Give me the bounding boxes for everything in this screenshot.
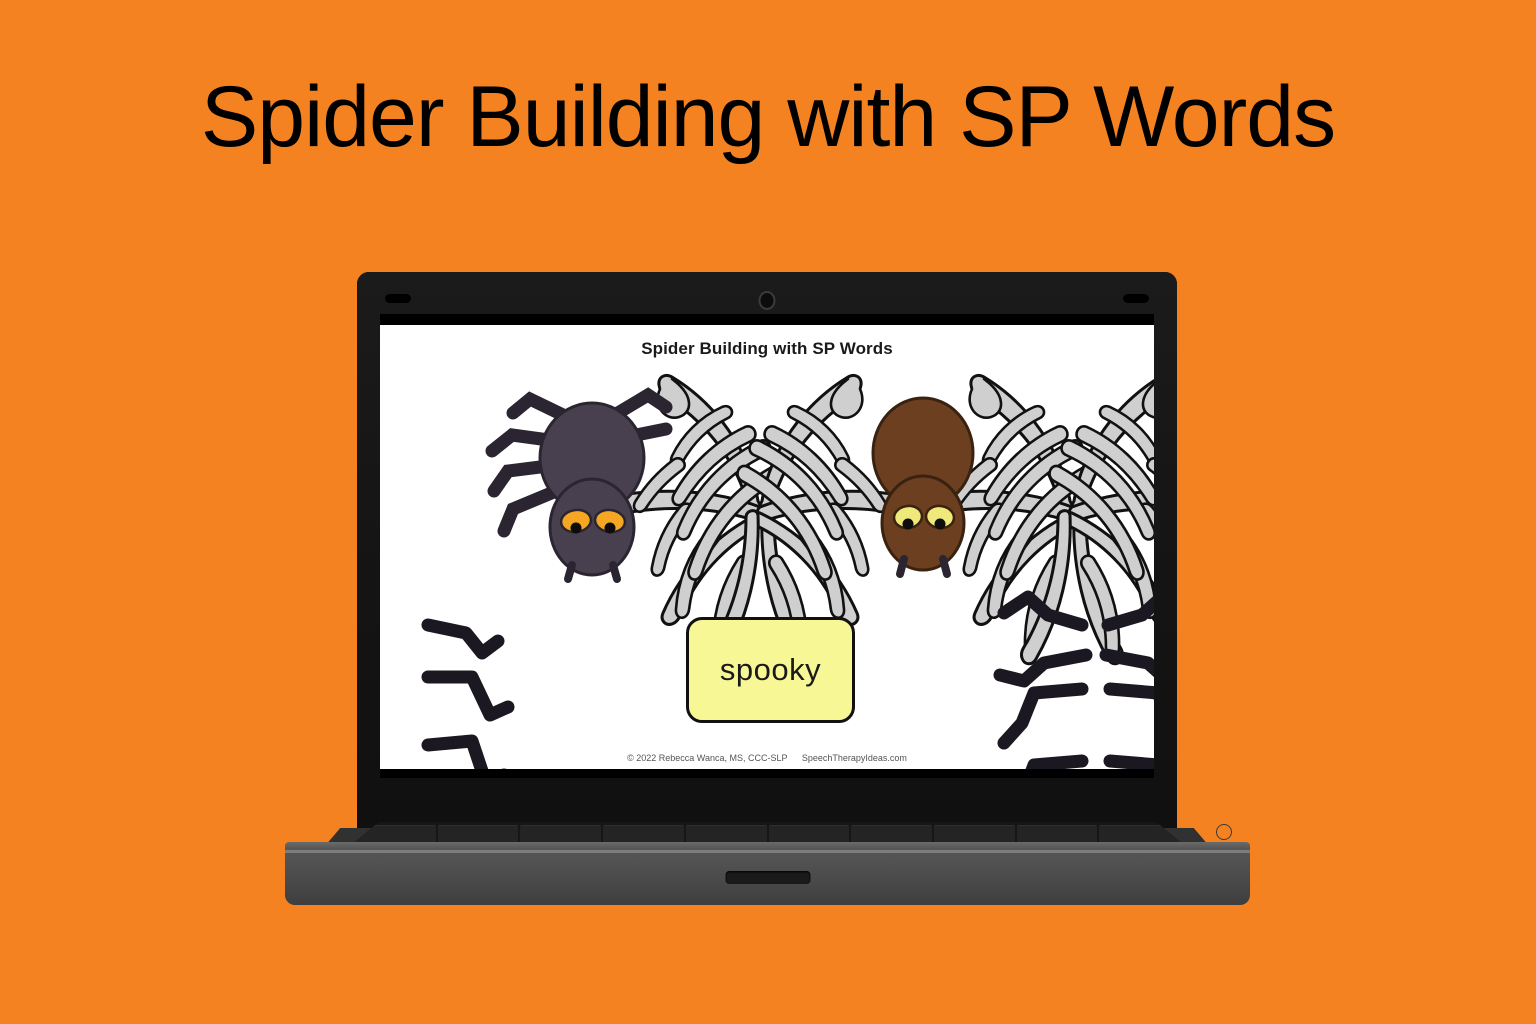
website-text: SpeechTherapyIdeas.com xyxy=(802,753,907,763)
screen-bottom-band xyxy=(380,769,1154,778)
loose-leg-right-3[interactable] xyxy=(1000,655,1086,681)
loose-leg-right-1[interactable] xyxy=(1004,597,1082,625)
bezel-indicator-left-icon xyxy=(385,294,411,303)
slide-footer: © 2022 Rebecca Wanca, MS, CCC-SLP Speech… xyxy=(380,753,1154,763)
loose-leg-right-5[interactable] xyxy=(1004,689,1082,743)
webcam-icon xyxy=(759,291,776,310)
loose-leg-right-4[interactable] xyxy=(1106,655,1154,681)
base-highlight-line xyxy=(285,850,1250,853)
word-card[interactable]: spooky xyxy=(686,617,855,723)
base-latch-notch xyxy=(725,871,810,884)
laptop-mockup: Spider Building with SP Words xyxy=(285,272,1250,905)
word-card-label: spooky xyxy=(720,652,821,688)
laptop-lid: Spider Building with SP Words xyxy=(357,272,1177,842)
loose-leg-left-1[interactable] xyxy=(428,625,498,653)
power-button-icon[interactable] xyxy=(1216,824,1232,840)
page-title: Spider Building with SP Words xyxy=(0,72,1536,162)
copyright-text: © 2022 Rebecca Wanca, MS, CCC-SLP xyxy=(627,753,787,763)
loose-leg-right-2[interactable] xyxy=(1108,597,1154,625)
laptop-base xyxy=(285,842,1250,905)
bezel-indicator-right-icon xyxy=(1123,294,1149,303)
page-root: Spider Building with SP Words Spider Bui… xyxy=(0,0,1536,1024)
loose-leg-left-2[interactable] xyxy=(428,677,508,715)
laptop-screen[interactable]: Spider Building with SP Words xyxy=(380,325,1154,771)
loose-leg-right-6[interactable] xyxy=(1110,689,1154,743)
